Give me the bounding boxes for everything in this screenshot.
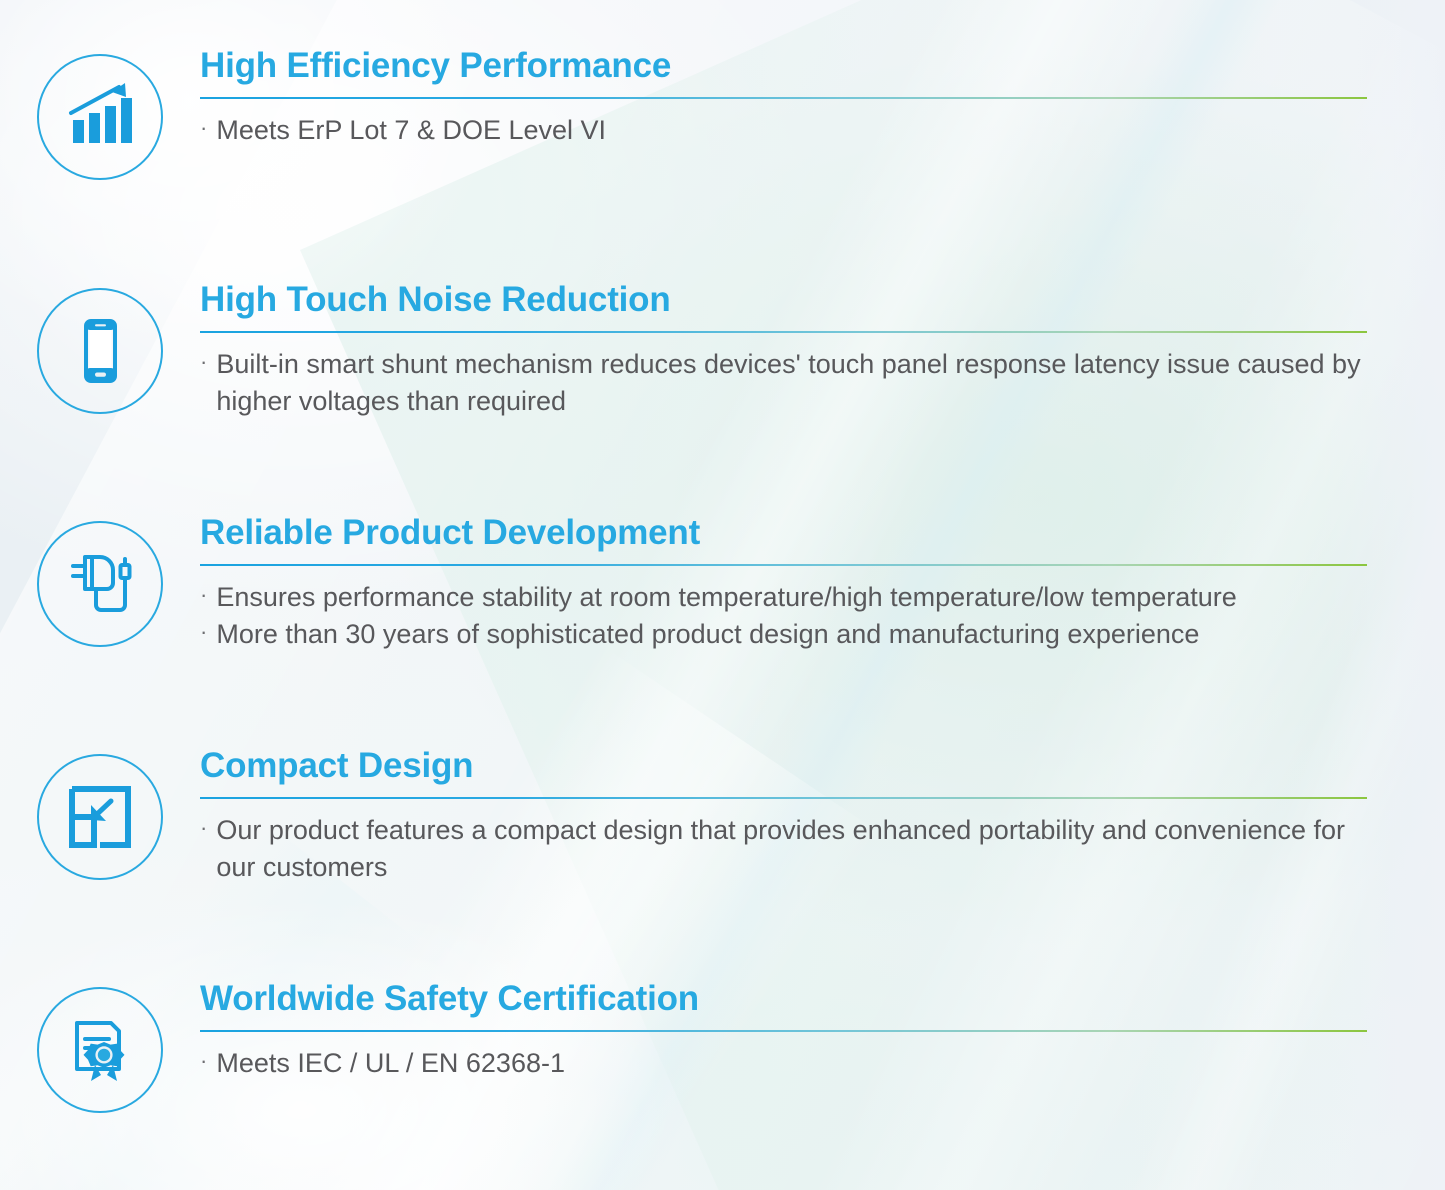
feature-divider	[200, 1030, 1367, 1032]
bullet-marker-icon: ·	[200, 1050, 207, 1072]
feature-text-block: High Touch Noise Reduction · Built-in sm…	[200, 282, 1445, 420]
feature-text-block: Reliable Product Development · Ensures p…	[200, 515, 1445, 653]
power-adapter-icon	[37, 521, 163, 647]
feature-text-block: Compact Design · Our product features a …	[200, 748, 1445, 886]
feature-bullet: · Meets IEC / UL / EN 62368-1	[200, 1045, 1367, 1082]
feature-item-high-efficiency-performance: High Efficiency Performance · Meets ErP …	[0, 48, 1445, 180]
bar-chart-growth-icon	[37, 54, 163, 180]
feature-title: High Touch Noise Reduction	[200, 282, 1367, 319]
feature-bullet: · More than 30 years of sophisticated pr…	[200, 616, 1367, 653]
feature-title: Compact Design	[200, 748, 1367, 785]
feature-highlights-page: High Efficiency Performance · Meets ErP …	[0, 0, 1445, 1190]
feature-icon-wrapper	[0, 48, 200, 180]
feature-icon-wrapper	[0, 748, 200, 880]
certificate-award-icon	[37, 987, 163, 1113]
feature-title: High Efficiency Performance	[200, 48, 1367, 85]
feature-text-block: Worldwide Safety Certification · Meets I…	[200, 981, 1445, 1082]
bullet-marker-icon: ·	[200, 817, 207, 839]
feature-bullet: · Our product features a compact design …	[200, 812, 1367, 887]
feature-bullet-text: Our product features a compact design th…	[216, 812, 1367, 887]
feature-bullet-text: Meets ErP Lot 7 & DOE Level VI	[216, 112, 1367, 149]
bullet-marker-icon: ·	[200, 351, 207, 373]
feature-bullet: · Meets ErP Lot 7 & DOE Level VI	[200, 112, 1367, 149]
feature-divider	[200, 797, 1367, 799]
smartphone-icon	[37, 288, 163, 414]
feature-divider	[200, 331, 1367, 333]
feature-bullet-text: More than 30 years of sophisticated prod…	[216, 616, 1367, 653]
feature-item-worldwide-safety-certification: Worldwide Safety Certification · Meets I…	[0, 981, 1445, 1113]
feature-bullet-list: · Our product features a compact design …	[200, 812, 1367, 887]
feature-title: Reliable Product Development	[200, 515, 1367, 552]
feature-bullet-list: · Ensures performance stability at room …	[200, 579, 1367, 654]
feature-divider	[200, 97, 1367, 99]
feature-bullet-list: · Meets IEC / UL / EN 62368-1	[200, 1045, 1367, 1082]
feature-bullet: · Built-in smart shunt mechanism reduces…	[200, 346, 1367, 421]
compact-resize-icon	[37, 754, 163, 880]
feature-bullet: · Ensures performance stability at room …	[200, 579, 1367, 616]
feature-icon-wrapper	[0, 515, 200, 647]
feature-icon-wrapper	[0, 981, 200, 1113]
feature-text-block: High Efficiency Performance · Meets ErP …	[200, 48, 1445, 149]
feature-bullet-text: Built-in smart shunt mechanism reduces d…	[216, 346, 1367, 421]
feature-item-high-touch-noise-reduction: High Touch Noise Reduction · Built-in sm…	[0, 282, 1445, 420]
feature-item-compact-design: Compact Design · Our product features a …	[0, 748, 1445, 886]
feature-divider	[200, 564, 1367, 566]
feature-icon-wrapper	[0, 282, 200, 414]
bullet-marker-icon: ·	[200, 621, 207, 643]
feature-item-reliable-product-development: Reliable Product Development · Ensures p…	[0, 515, 1445, 653]
feature-bullet-text: Ensures performance stability at room te…	[216, 579, 1367, 616]
feature-bullet-list: · Built-in smart shunt mechanism reduces…	[200, 346, 1367, 421]
bullet-marker-icon: ·	[200, 117, 207, 139]
feature-bullet-text: Meets IEC / UL / EN 62368-1	[216, 1045, 1367, 1082]
feature-title: Worldwide Safety Certification	[200, 981, 1367, 1018]
feature-bullet-list: · Meets ErP Lot 7 & DOE Level VI	[200, 112, 1367, 149]
bullet-marker-icon: ·	[200, 584, 207, 606]
